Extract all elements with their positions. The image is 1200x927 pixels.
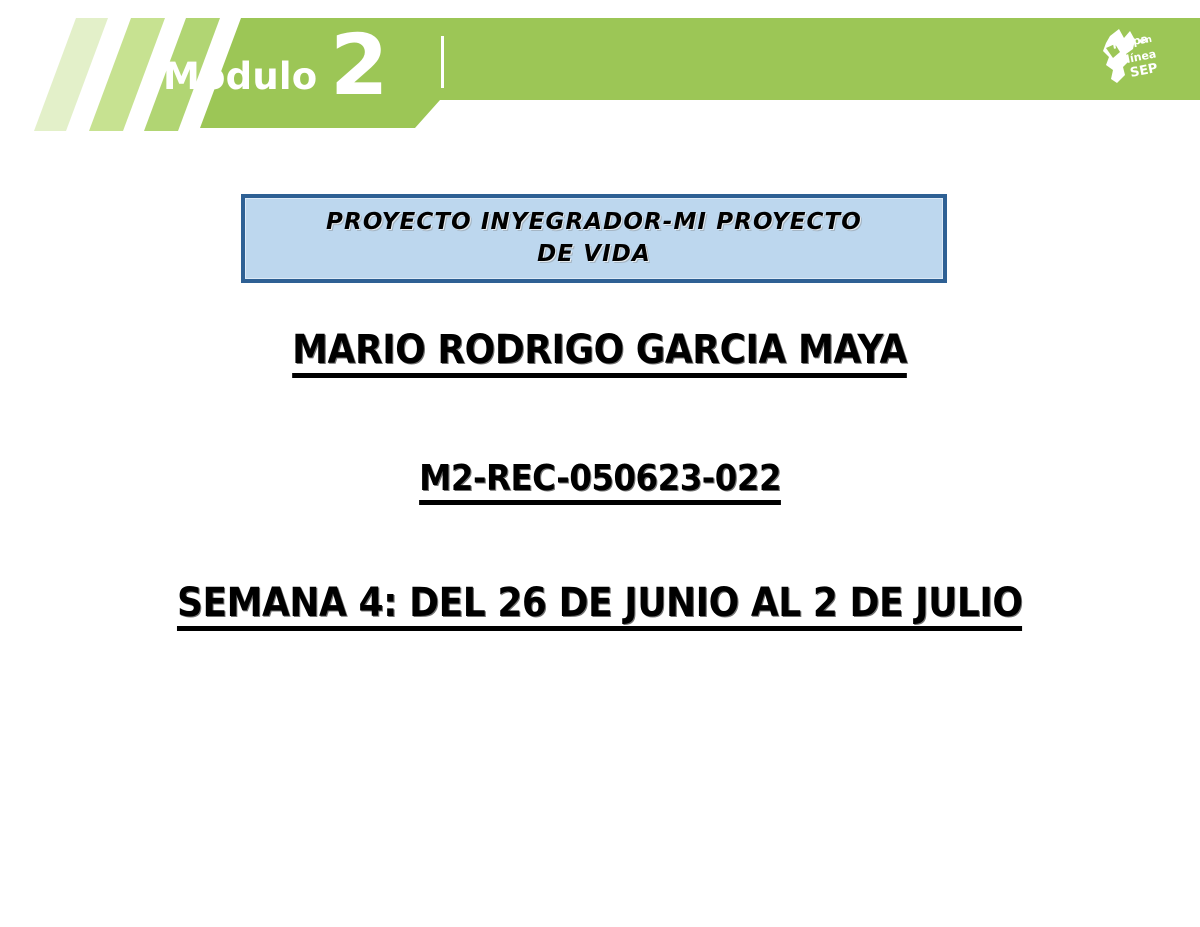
student-name: MARIO RODRIGO GARCIA MAYA xyxy=(293,330,908,378)
module-label: Módulo xyxy=(163,58,317,95)
student-id-line: M2-REC-050623-022 xyxy=(0,461,1200,505)
project-title-box: PROYECTO INYEGRADOR-MI PROYECTO DE VIDA xyxy=(241,194,947,283)
header-banner: Módulo 2 Prepa en línea SEP xyxy=(0,0,1200,140)
student-id: M2-REC-050623-022 xyxy=(419,461,781,505)
student-name-line: MARIO RODRIGO GARCIA MAYA xyxy=(0,330,1200,378)
header-divider xyxy=(441,36,444,88)
project-title-line-1: PROYECTO INYEGRADOR-MI PROYECTO xyxy=(326,209,862,235)
module-number: 2 xyxy=(330,23,388,107)
project-title-text: PROYECTO INYEGRADOR-MI PROYECTO DE VIDA xyxy=(316,207,872,269)
week-range-line: SEMANA 4: DEL 26 DE JUNIO AL 2 DE JULIO xyxy=(0,583,1200,631)
week-range: SEMANA 4: DEL 26 DE JUNIO AL 2 DE JULIO xyxy=(177,583,1023,631)
svg-text:en: en xyxy=(1139,35,1153,47)
slide-canvas: Módulo 2 Prepa en línea SEP PROYECTO INY… xyxy=(0,0,1200,927)
project-title-line-2: DE VIDA xyxy=(537,241,651,267)
prepa-en-linea-sep-logo-icon: Prepa en línea SEP xyxy=(1093,27,1159,89)
